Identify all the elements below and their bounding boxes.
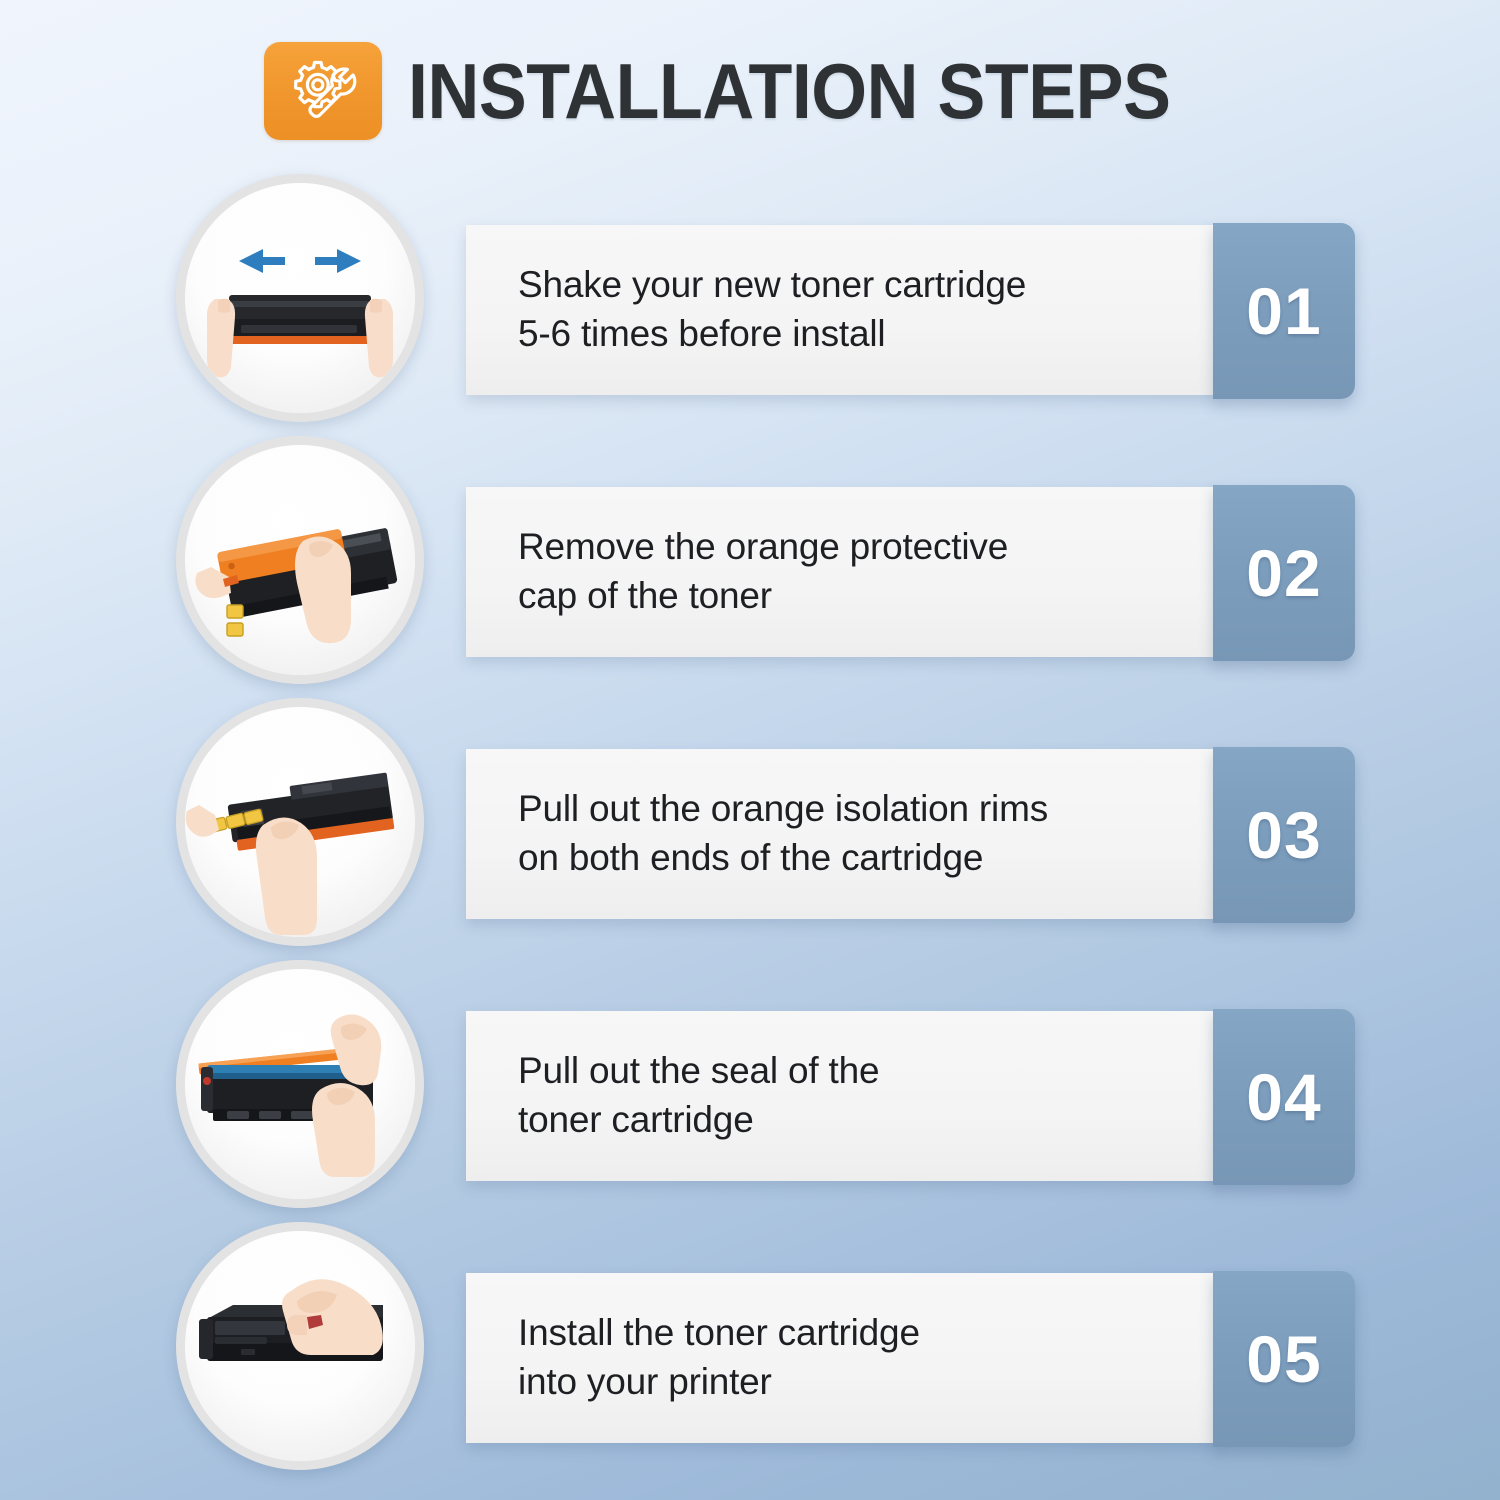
step-number-block: 02 xyxy=(1213,485,1355,661)
step-number: 02 xyxy=(1246,540,1321,606)
step-number-block: 04 xyxy=(1213,1009,1355,1185)
step-row: Pull out the seal of the toner cartridge… xyxy=(0,954,1500,1216)
step-text-line2: cap of the toner xyxy=(518,572,1008,621)
step-text-line2: into your printer xyxy=(518,1358,920,1407)
step-text-line1: Shake your new toner cartridge xyxy=(518,261,1026,310)
step-text-line1: Pull out the orange isolation rims xyxy=(518,785,1048,834)
step-number: 03 xyxy=(1246,802,1321,868)
page-header: INSTALLATION STEPS xyxy=(0,42,1500,140)
step-row: Install the toner cartridge into your pr… xyxy=(0,1216,1500,1478)
step-row: Pull out the orange isolation rims on bo… xyxy=(0,692,1500,954)
step-number-block: 03 xyxy=(1213,747,1355,923)
step-photo-3 xyxy=(176,698,424,946)
toner-shake-photo xyxy=(185,183,415,413)
step-text-line2: toner cartridge xyxy=(518,1096,879,1145)
step-text: Install the toner cartridge into your pr… xyxy=(466,1309,936,1407)
step-text-line2: 5-6 times before install xyxy=(518,310,1026,359)
toner-remove-cap-photo xyxy=(185,445,415,675)
step-text-line1: Install the toner cartridge xyxy=(518,1309,920,1358)
step-text-line1: Remove the orange protective xyxy=(518,523,1008,572)
toner-isolation-rims-photo xyxy=(185,707,415,937)
step-card: Shake your new toner cartridge 5-6 times… xyxy=(466,225,1218,395)
step-text-line1: Pull out the seal of the xyxy=(518,1047,879,1096)
steps-list: Shake your new toner cartridge 5-6 times… xyxy=(0,168,1500,1478)
step-card: Install the toner cartridge into your pr… xyxy=(466,1273,1218,1443)
step-number: 01 xyxy=(1246,278,1321,344)
step-number-block: 05 xyxy=(1213,1271,1355,1447)
step-photo-4 xyxy=(176,960,424,1208)
page-title: INSTALLATION STEPS xyxy=(408,52,1170,130)
step-row: Shake your new toner cartridge 5-6 times… xyxy=(0,168,1500,430)
step-card: Pull out the orange isolation rims on bo… xyxy=(466,749,1218,919)
step-text-line2: on both ends of the cartridge xyxy=(518,834,1048,883)
step-card: Remove the orange protective cap of the … xyxy=(466,487,1218,657)
toner-pull-seal-photo xyxy=(185,969,415,1199)
step-photo-5 xyxy=(176,1222,424,1470)
step-photo-1 xyxy=(176,174,424,422)
step-photo-2 xyxy=(176,436,424,684)
step-text: Remove the orange protective cap of the … xyxy=(466,523,1024,621)
step-text: Shake your new toner cartridge 5-6 times… xyxy=(466,261,1042,359)
shake-arrows-icon xyxy=(239,249,361,273)
step-number: 04 xyxy=(1246,1064,1321,1130)
step-number: 05 xyxy=(1246,1326,1321,1392)
step-text: Pull out the orange isolation rims on bo… xyxy=(466,785,1064,883)
gear-wrench-icon xyxy=(264,42,382,140)
toner-install-photo xyxy=(185,1231,415,1461)
step-text: Pull out the seal of the toner cartridge xyxy=(466,1047,895,1145)
step-row: Remove the orange protective cap of the … xyxy=(0,430,1500,692)
step-card: Pull out the seal of the toner cartridge xyxy=(466,1011,1218,1181)
step-number-block: 01 xyxy=(1213,223,1355,399)
